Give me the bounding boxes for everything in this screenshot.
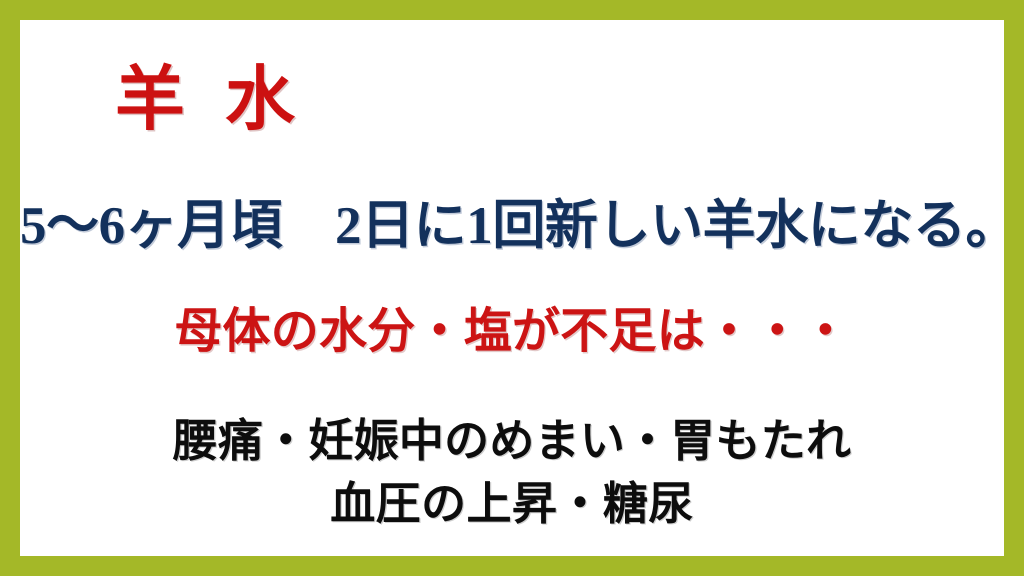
page-title: 羊 水 (115, 66, 306, 136)
body-line-symptoms-first: 腰痛・妊娠中のめまい・胃もたれ (20, 419, 1004, 464)
slide-content-area: 羊 水 5〜6ヶ月頃 2日に1回新しい羊水になる。 母体の水分・塩が不足は・・・… (20, 20, 1004, 556)
slide-frame: 羊 水 5〜6ヶ月頃 2日に1回新しい羊水になる。 母体の水分・塩が不足は・・・… (0, 0, 1024, 576)
body-line-maternal-deficiency-heading: 母体の水分・塩が不足は・・・ (20, 308, 1004, 356)
body-line-amniotic-fluid-cycle: 5〜6ヶ月頃 2日に1回新しい羊水になる。 (20, 200, 1004, 253)
body-line-symptoms-second: 血圧の上昇・糖尿 (20, 482, 1004, 527)
